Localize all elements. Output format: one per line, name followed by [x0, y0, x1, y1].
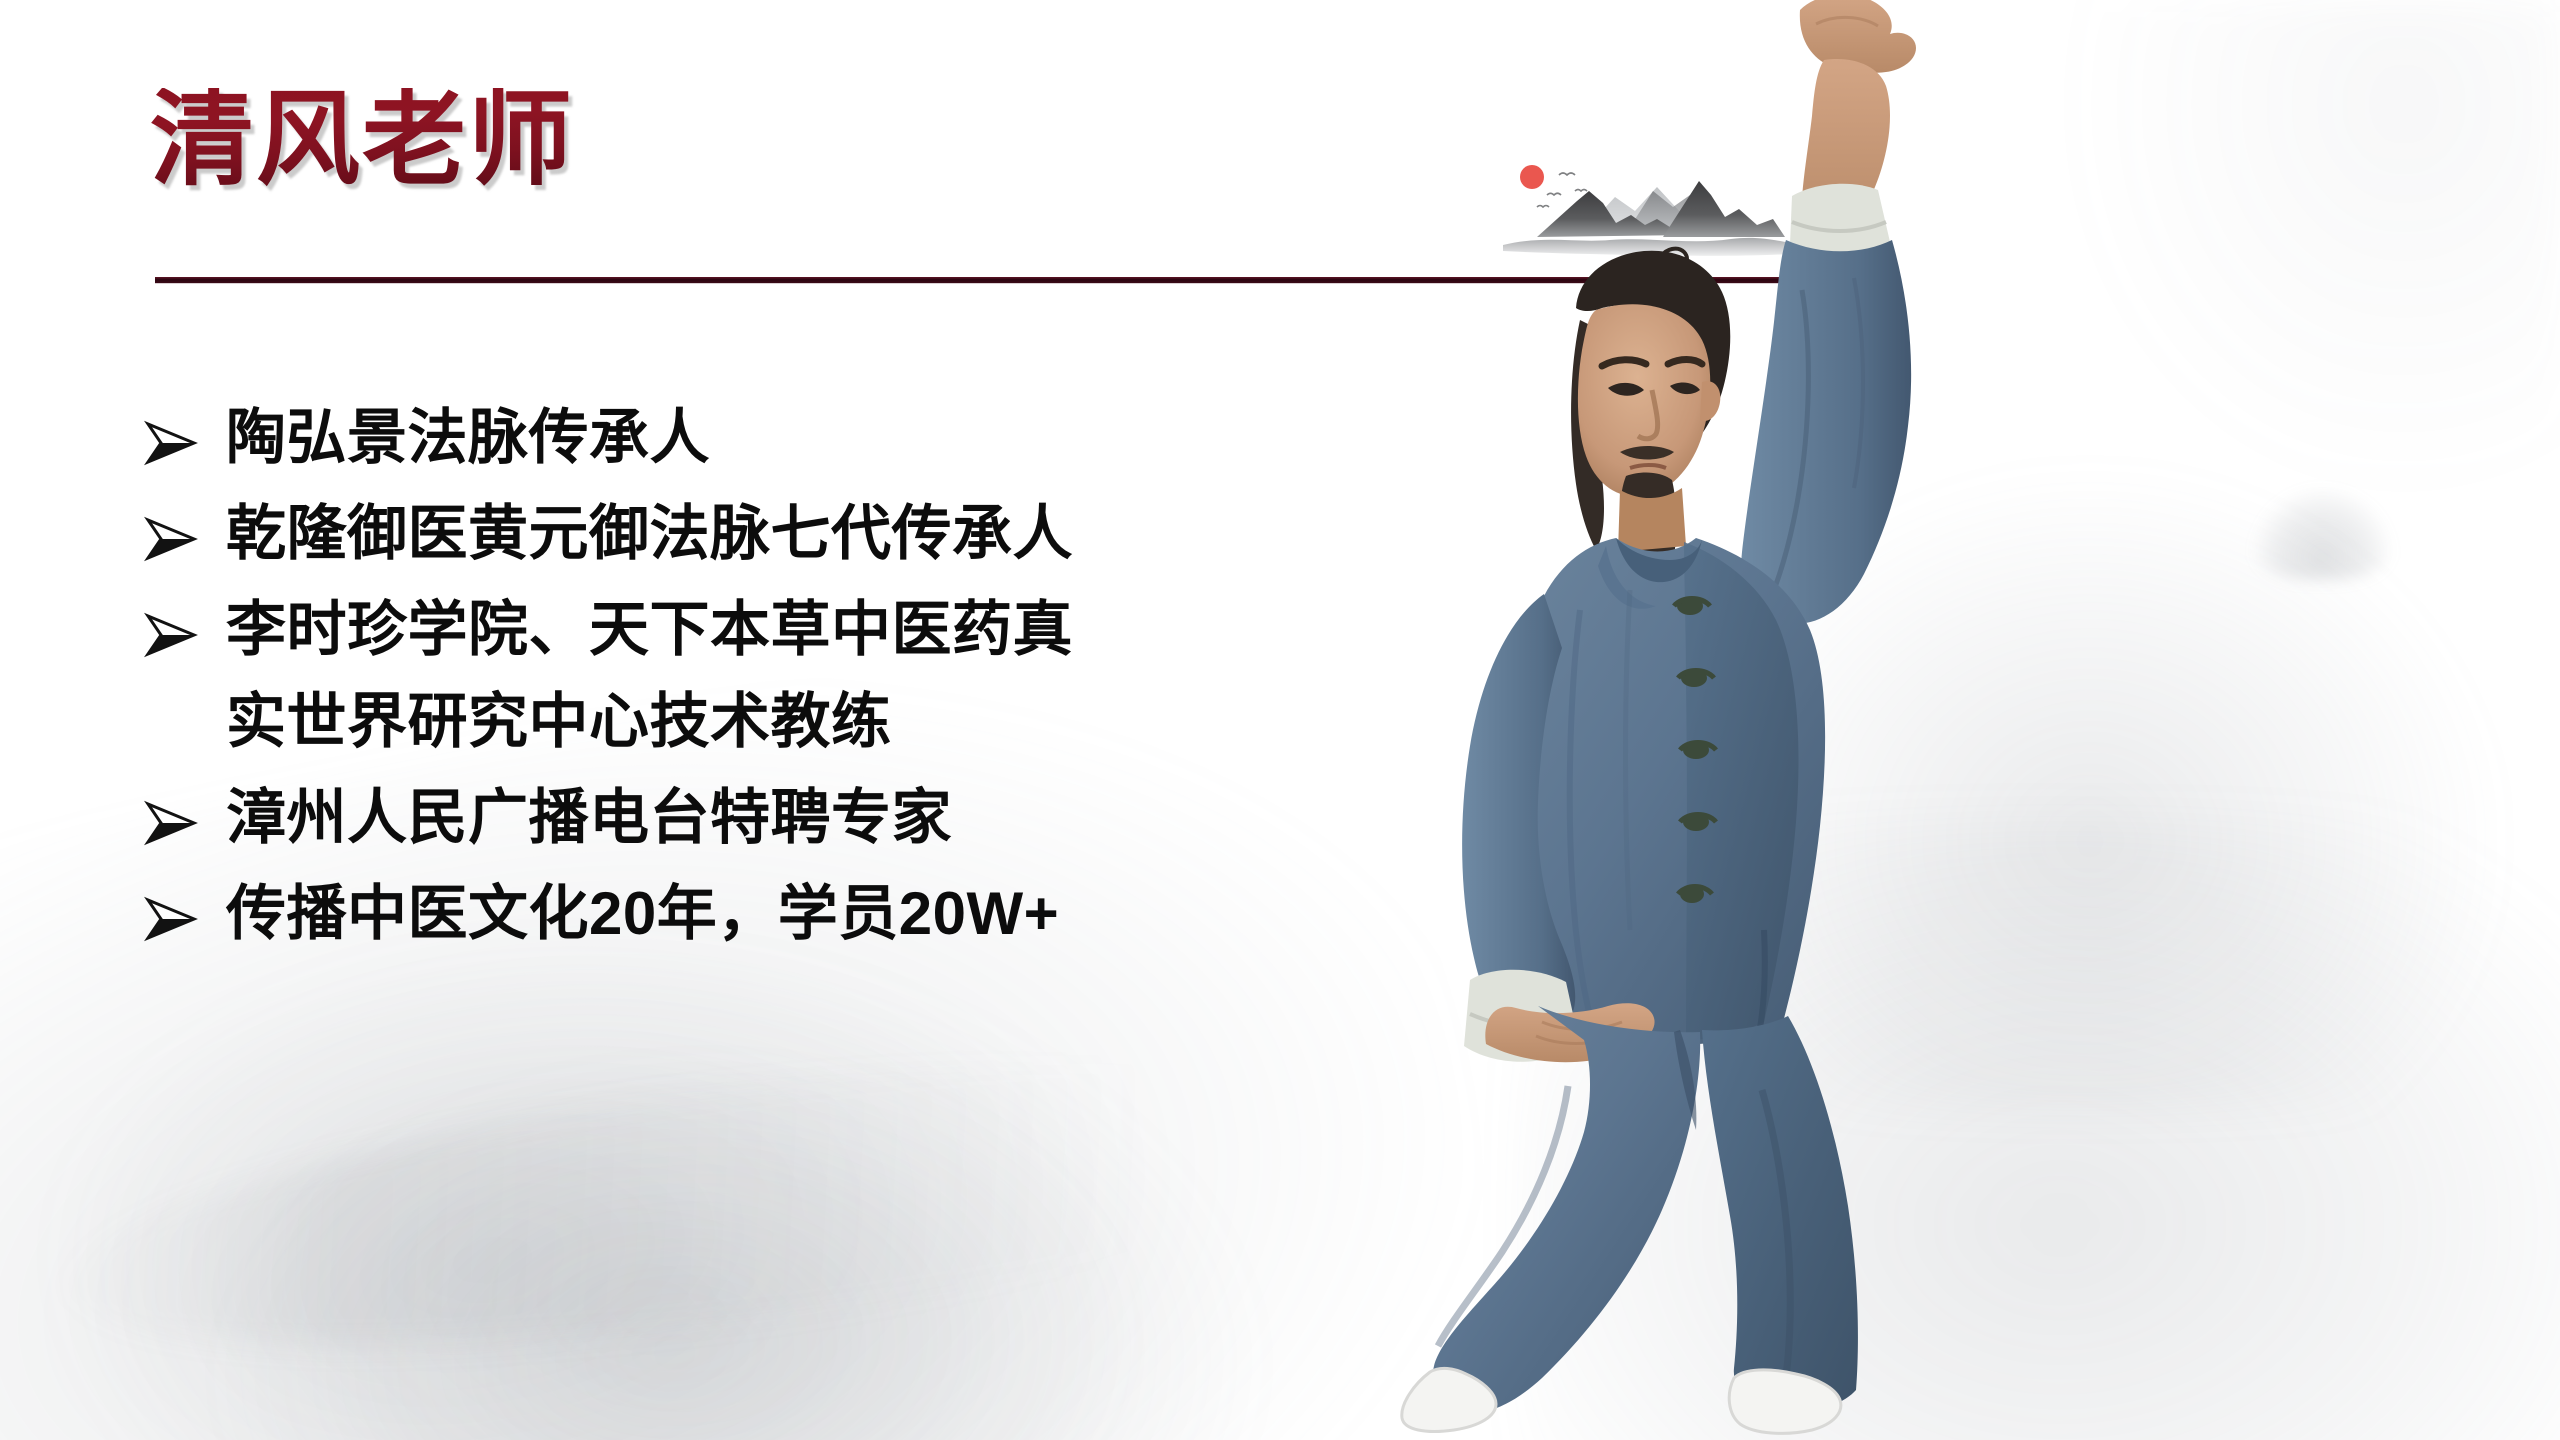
list-item-label: 乾隆御医黄元御法脉七代传承人	[226, 494, 1073, 574]
arrow-bullet-icon	[138, 398, 226, 466]
list-item: 陶弘景法脉传承人	[138, 398, 1438, 478]
credentials-list: 陶弘景法脉传承人 乾隆御医黄元御法脉七代传承人 李时珍学院、天下本草中医药真	[138, 398, 1438, 970]
list-item-label: 李时珍学院、天下本草中医药真	[226, 590, 1073, 670]
arrow-bullet-icon	[138, 590, 226, 658]
upper-sleeve	[1741, 240, 1911, 624]
list-item: 漳州人民广播电台特聘专家	[138, 778, 1438, 858]
list-item: 乾隆御医黄元御法脉七代传承人	[138, 494, 1438, 574]
left-trouser-leg	[1433, 1006, 1701, 1413]
arrow-bullet-icon	[138, 874, 226, 942]
slide-canvas: 清风老师	[0, 0, 2560, 1440]
arrow-bullet-icon	[138, 494, 226, 562]
list-item: 李时珍学院、天下本草中医药真	[138, 590, 1438, 670]
list-item-label: 传播中医文化20年，学员20W+	[226, 874, 1059, 954]
mist-left-small	[159, 998, 1181, 1440]
page-title: 清风老师	[150, 88, 574, 192]
face	[1578, 304, 1710, 496]
list-item-label: 漳州人民广播电台特聘专家	[226, 778, 952, 858]
right-trouser-leg	[1702, 1016, 1858, 1412]
list-item-continuation: 实世界研究中心技术教练	[138, 682, 1438, 762]
arrow-bullet-icon	[138, 778, 226, 846]
sleeve-cuff-upper	[1790, 184, 1890, 255]
list-item: 传播中医文化20年，学员20W+	[138, 874, 1438, 954]
tai-chi-master-photo	[1330, 0, 2560, 1440]
list-item-label: 陶弘景法脉传承人	[226, 398, 710, 478]
mist-streak	[51, 1009, 1419, 1402]
list-item-label: 实世界研究中心技术教练	[226, 682, 892, 762]
